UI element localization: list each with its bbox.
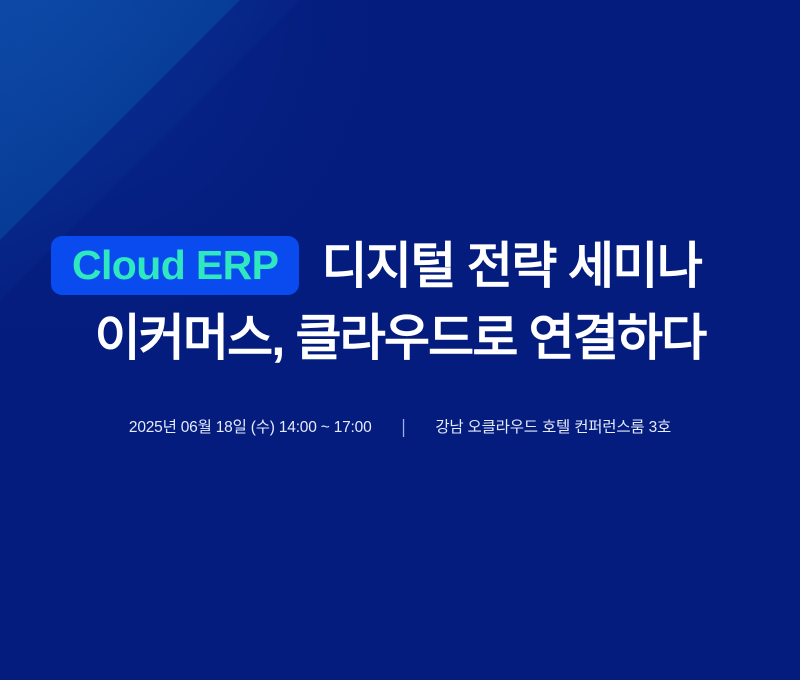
seminar-banner: Cloud ERP 디지털 전략 세미나 이커머스, 클라우드로 연결하다 20… xyxy=(0,0,800,680)
banner-content: Cloud ERP 디지털 전략 세미나 이커머스, 클라우드로 연결하다 20… xyxy=(0,0,800,680)
headline-line-1: 디지털 전략 세미나 xyxy=(321,241,701,291)
event-meta-row: 2025년 06월 18일 (수) 14:00 ~ 17:00 | 강남 오클라… xyxy=(0,420,800,436)
cloud-erp-badge: Cloud ERP xyxy=(51,236,299,295)
event-datetime: 2025년 06월 18일 (수) 14:00 ~ 17:00 xyxy=(129,420,372,436)
event-venue: 강남 오클라우드 호텔 컨퍼런스룸 3호 xyxy=(435,420,671,436)
meta-divider: | xyxy=(402,418,406,437)
headline-row-primary: Cloud ERP 디지털 전략 세미나 xyxy=(0,236,800,295)
headline-line-2: 이커머스, 클라우드로 연결하다 xyxy=(0,309,800,367)
